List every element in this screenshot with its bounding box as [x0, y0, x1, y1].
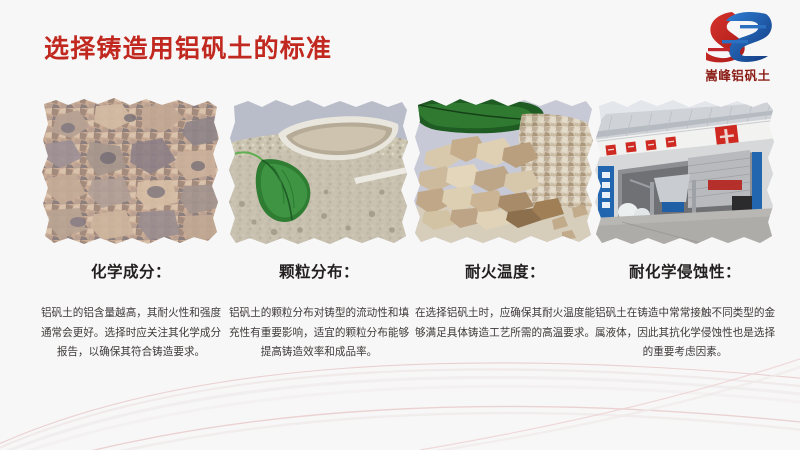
column-heading: 耐化学侵蚀性：: [592, 260, 778, 282]
column-corrosion-resistance: 耐化学侵蚀性： 铝矾土在铸造中常常接触不同类型的金属液体，因此其抗化学侵蚀性也是…: [592, 96, 778, 363]
column-refractory-temperature: 耐火温度： 在选择铝矾土时，应确保其耐火温度能够满足具体铸造工艺所需的高温要求。: [412, 96, 598, 343]
column-chemical-composition: 化学成分： 铝矾土的铝含量越高，其耐火性和强度通常会更好。选择时应关注其化学成分…: [38, 96, 224, 363]
content-columns: 化学成分： 铝矾土的铝含量越高，其耐火性和强度通常会更好。选择时应关注其化学成分…: [0, 96, 800, 396]
column-heading: 耐火温度：: [412, 260, 598, 282]
photo-factory-workshop: [592, 96, 778, 248]
column-body-text: 铝矾土在铸造中常常接触不同类型的金属液体，因此其抗化学侵蚀性也是选择的重要考虑因…: [592, 304, 778, 363]
photo-bauxite-clinker: [412, 96, 598, 248]
brand-logo: 嵩峰铝矾土: [686, 8, 790, 88]
photo-factory-workshop-art: [592, 96, 778, 248]
photo-bauxite-powder: [226, 96, 412, 248]
photo-bauxite-ore: [38, 96, 224, 248]
column-body-text: 铝矾土的铝含量越高，其耐火性和强度通常会更好。选择时应关注其化学成分报告，以确保…: [38, 304, 224, 363]
column-heading: 化学成分：: [38, 260, 224, 282]
column-grain-distribution: 颗粒分布： 铝矾土的颗粒分布对铸型的流动性和填充性有重要影响，适宜的颗粒分布能够…: [226, 96, 412, 363]
photo-bauxite-clinker-art: [412, 96, 598, 248]
column-body-text: 铝矾土的颗粒分布对铸型的流动性和填充性有重要影响，适宜的颗粒分布能够提高铸造效率…: [226, 304, 412, 363]
column-heading: 颗粒分布：: [226, 260, 412, 282]
page-title: 选择铸造用铝矾土的标准: [44, 29, 332, 65]
logo-s-emblem: [696, 8, 780, 64]
column-body-text: 在选择铝矾土时，应确保其耐火温度能够满足具体铸造工艺所需的高温要求。: [410, 304, 600, 343]
logo-text: 嵩峰铝矾土: [686, 65, 790, 84]
slide-root: 选择铸造用铝矾土的标准 嵩峰铝矾土: [0, 0, 800, 450]
photo-bauxite-powder-art: [226, 96, 412, 248]
photo-bauxite-ore-art: [38, 96, 224, 248]
